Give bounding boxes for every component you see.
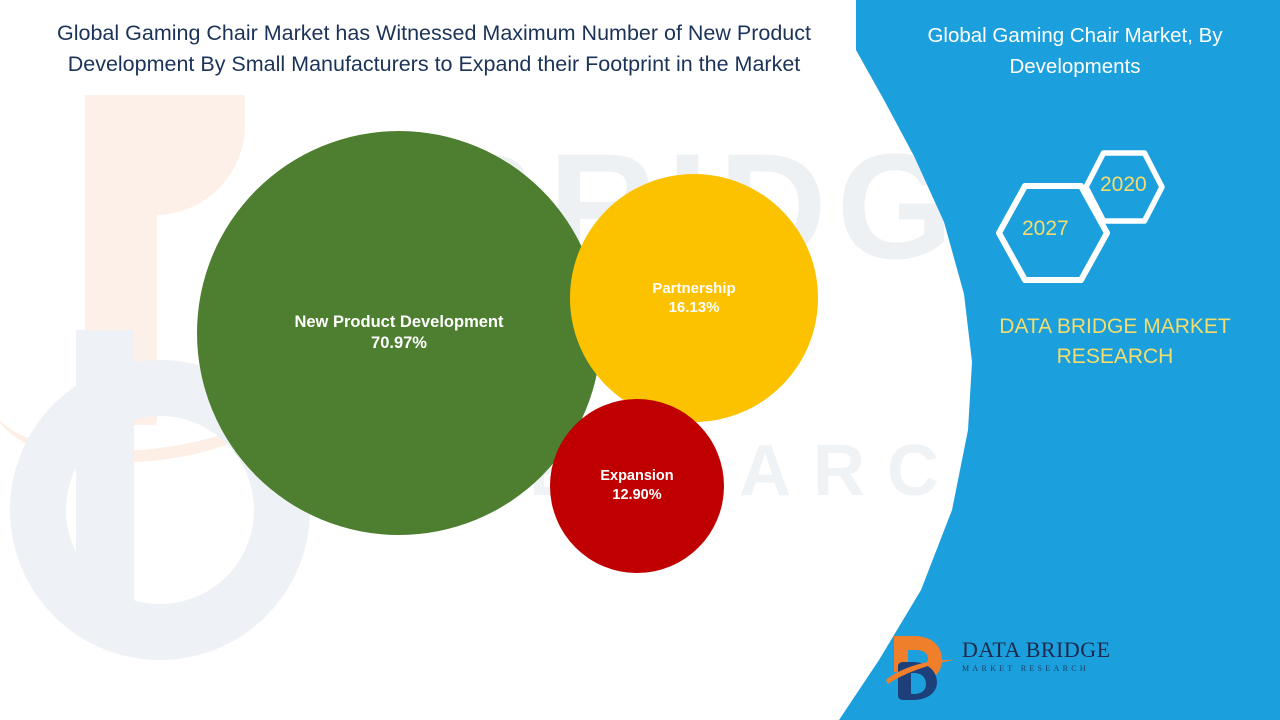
bubble-value: 16.13% (669, 298, 720, 317)
logo-wordmark: DATA BRIDGE MARKET RESEARCH (962, 638, 1102, 676)
panel-title: Global Gaming Chair Market, By Developme… (900, 20, 1250, 82)
bubble-value: 12.90% (612, 486, 661, 505)
page-title: Global Gaming Chair Market has Witnessed… (28, 18, 840, 80)
bubble-expansion: Expansion 12.90% (550, 399, 724, 573)
logo-title: DATA BRIDGE (962, 638, 1102, 662)
bubble-label: Expansion (600, 467, 673, 486)
data-bridge-logo: DATA BRIDGE MARKET RESEARCH (884, 628, 1099, 702)
bubble-label: New Product Development (294, 312, 503, 333)
watermark-b-orange-stem (85, 95, 157, 425)
logo-subtitle: MARKET RESEARCH (962, 662, 1102, 676)
bubble-value: 70.97% (371, 333, 427, 354)
bubble-label: Partnership (652, 279, 735, 298)
watermark-b-stem (76, 330, 134, 630)
infographic-canvas: BRIDGE RESEARCH Global Gaming Chair Mark… (0, 0, 1280, 720)
bubble-new-product-development: New Product Development 70.97% (197, 131, 601, 535)
data-bridge-logomark-icon (884, 628, 958, 702)
brand-name: DATA BRIDGE MARKET RESEARCH (965, 312, 1265, 372)
bubble-partnership: Partnership 16.13% (570, 174, 818, 422)
hexagon-badge-2027: 2027 (996, 183, 1110, 283)
watermark-b-orange-arc (85, 95, 245, 215)
hexagon-year-label: 2027 (1022, 217, 1069, 241)
